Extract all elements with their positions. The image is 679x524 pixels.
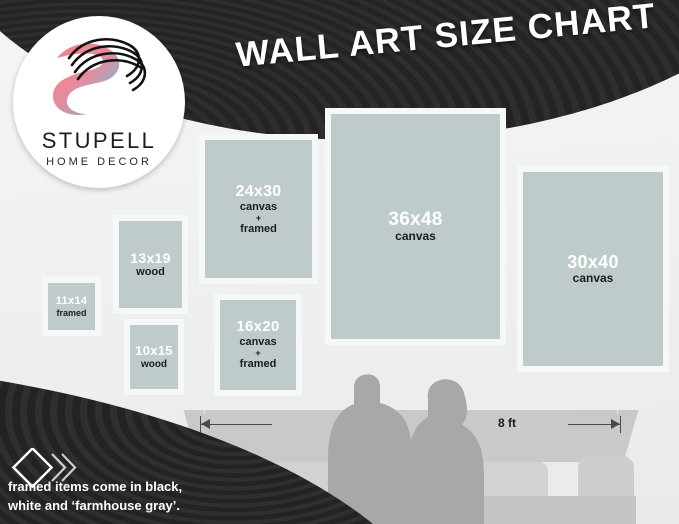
measure-label: 8 ft <box>498 416 516 430</box>
frame-media-label: framed <box>56 308 86 318</box>
frame-size-label: 24x30 <box>236 183 282 201</box>
footer-note: framed items come in black, white and ‘f… <box>8 478 298 516</box>
frame-media-label: canvas <box>573 272 614 285</box>
frame-24x30: 24x30canvas+framed <box>205 140 312 278</box>
brand-logo-badge: STUPELL HOME DECOR <box>13 16 185 188</box>
frame-13x19: 13x19wood <box>119 221 182 308</box>
frame-media-label: framed <box>240 358 277 370</box>
footer-note-line-2: white and ‘farmhouse gray’. <box>8 497 298 516</box>
measure-cap-right <box>620 416 621 433</box>
frame-size-label: 36x48 <box>388 209 442 230</box>
frame-size-label: 10x15 <box>135 344 173 359</box>
wall-art-size-chart-poster: WALL ART SIZE CHART STUPELL <box>0 0 679 524</box>
frame-media-label: + <box>255 348 260 358</box>
frame-30x40: 30x40canvas <box>523 172 663 366</box>
frame-media-label: framed <box>240 223 277 235</box>
frame-10x15: 10x15wood <box>130 325 178 389</box>
frame-size-label: 13x19 <box>130 251 170 267</box>
frame-size-label: 11x14 <box>56 295 87 307</box>
measure-arrow-left <box>201 419 210 429</box>
frame-media-label: wood <box>141 359 167 370</box>
frame-media-label: canvas <box>395 230 436 243</box>
measure-arrow-right <box>611 419 620 429</box>
frame-size-label: 30x40 <box>567 252 619 272</box>
frame-media-label: canvas <box>239 336 276 348</box>
seated-couple-silhouette <box>316 355 496 524</box>
brand-tagline: HOME DECOR <box>13 156 185 168</box>
footer-note-line-1: framed items come in black, <box>8 478 298 497</box>
frame-16x20: 16x20canvas+framed <box>220 300 296 390</box>
measure-line-left <box>200 424 272 425</box>
frame-media-label: canvas <box>240 201 277 213</box>
frame-36x48: 36x48canvas <box>331 114 500 339</box>
stupell-swoosh-logo-icon <box>39 28 159 120</box>
frame-media-label: + <box>256 213 261 223</box>
brand-name: STUPELL <box>13 128 185 154</box>
frame-size-label: 16x20 <box>236 319 279 336</box>
frame-11x14: 11x14framed <box>48 283 95 330</box>
frame-media-label: wood <box>136 266 165 278</box>
